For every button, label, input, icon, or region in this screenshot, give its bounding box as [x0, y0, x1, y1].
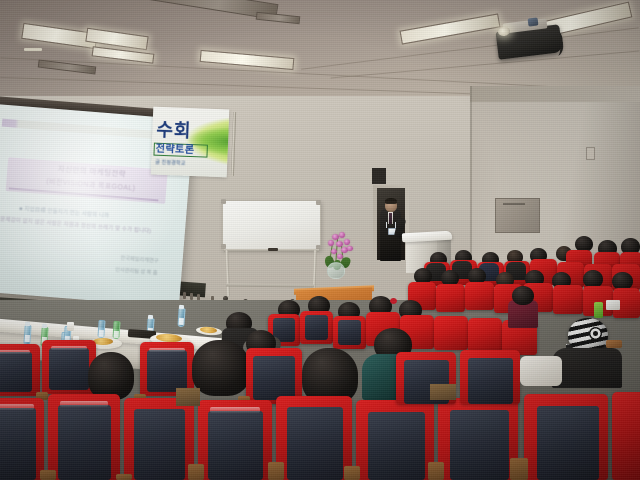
seat-armrest	[344, 466, 360, 480]
seat-armrest	[510, 458, 528, 480]
seat-cushion	[368, 412, 425, 480]
lecture-hall-photo: 자신만의 마케팅전략 (비전VISION과 목표GOAL) ■ 지업目標 만들지…	[0, 0, 640, 480]
seat-highlight	[0, 404, 34, 410]
bottle-cap	[179, 305, 184, 309]
seat-cushion	[253, 356, 295, 400]
audience-head	[88, 352, 134, 400]
seat-cushion	[468, 358, 513, 404]
seat-highlight	[210, 407, 260, 413]
floor-step	[176, 388, 200, 406]
bottle-cap	[25, 322, 30, 326]
striped-beanie	[568, 318, 608, 352]
floor-step	[430, 384, 456, 400]
seat-cushion	[338, 320, 361, 345]
seat-highlight	[60, 401, 108, 407]
audience-shoulder-accessory	[606, 340, 622, 348]
seat-highlight	[51, 346, 87, 350]
seat-cushion	[0, 408, 36, 480]
seat-armrest	[268, 462, 284, 480]
seat-cushion	[537, 406, 599, 480]
water-bottle	[23, 325, 31, 345]
water-bottle	[97, 320, 105, 338]
seat-cushion	[134, 409, 185, 480]
white-name-card	[606, 300, 620, 310]
seat-cushion	[450, 410, 509, 480]
white-jacket	[520, 356, 562, 386]
seat-cushion	[0, 352, 32, 392]
seat-back	[436, 284, 465, 312]
hair-accessory	[390, 298, 397, 304]
seat-highlight	[0, 350, 30, 354]
seat-back	[468, 318, 502, 352]
seat-cushion	[147, 350, 187, 392]
bottle-cap	[42, 324, 47, 328]
audience-body	[552, 348, 622, 388]
water-bottle	[177, 308, 185, 327]
audience-head	[192, 340, 250, 396]
beanie-swirl-pattern	[589, 327, 602, 340]
bottle-cap	[148, 315, 153, 319]
seat-back	[465, 282, 494, 310]
seat-armrest	[116, 474, 132, 480]
handheld-green-object	[594, 302, 603, 318]
seat-cushion	[305, 315, 328, 340]
food-items	[93, 338, 113, 345]
seat-cushion	[287, 407, 343, 480]
seat-back	[612, 392, 640, 480]
seat-back	[553, 285, 583, 314]
seat-back	[434, 316, 468, 350]
paper-cup	[67, 322, 74, 331]
seat-highlight	[149, 348, 185, 352]
audience-head	[512, 286, 534, 305]
seat-cushion	[49, 348, 89, 390]
seat-armrest	[40, 470, 56, 480]
seat-cushion	[58, 405, 111, 480]
water-bottle	[112, 321, 120, 339]
seat-armrest	[188, 464, 204, 480]
seat-cushion	[208, 411, 263, 480]
seat-armrest	[428, 462, 444, 480]
